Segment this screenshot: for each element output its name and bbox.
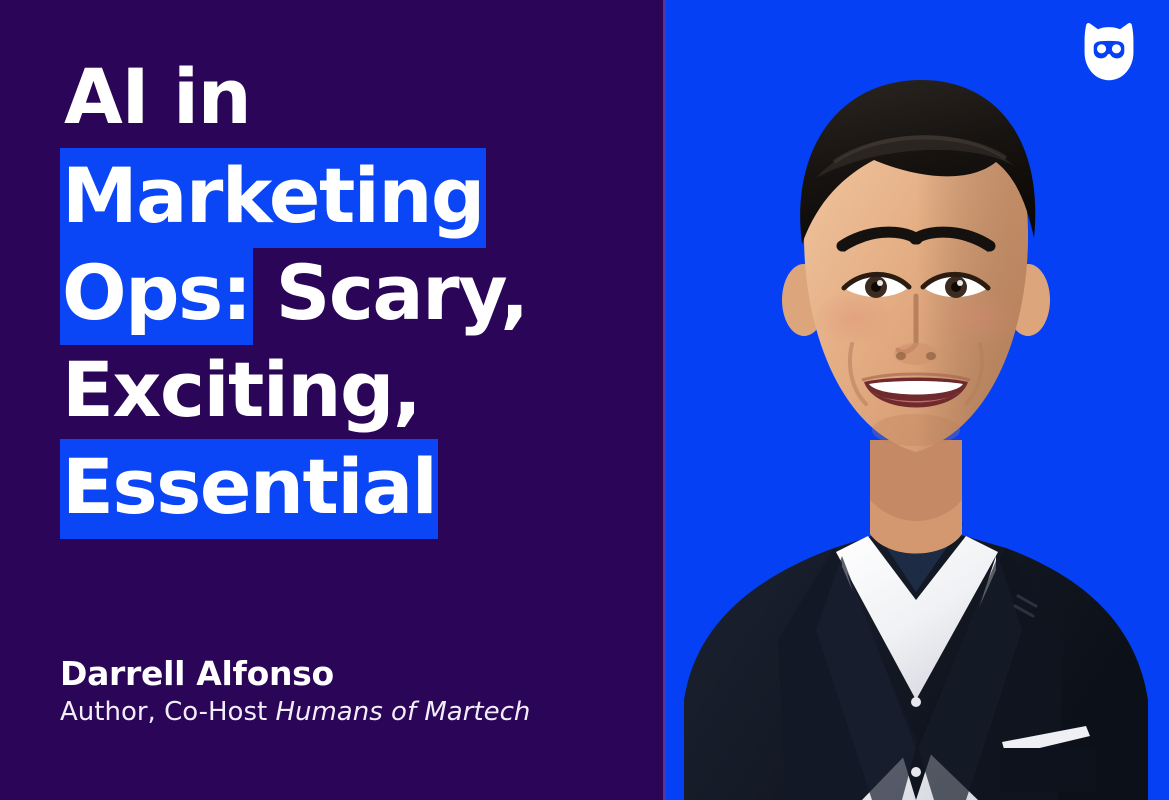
speaker-name: Darrell Alfonso <box>60 655 530 693</box>
headline-highlight-ops: Ops: <box>60 245 253 345</box>
speaker-block: Darrell Alfonso Author, Co-Host Humans o… <box>60 655 530 728</box>
ninja-mask-logo-icon <box>1075 18 1143 86</box>
portrait-panel <box>666 0 1169 800</box>
speaker-role: Author, Co-Host Humans of Martech <box>60 697 530 728</box>
headline-line-4: Exciting, <box>62 341 642 438</box>
headline-line-3: Ops: Scary, <box>62 244 642 341</box>
headline-line-3-rest: Scary, <box>251 248 528 337</box>
speaker-role-prefix: Author, Co-Host <box>60 697 275 727</box>
page-title: AI in Marketing Ops: Scary, Exciting, Es… <box>62 48 642 535</box>
speaker-photo <box>666 0 1169 800</box>
headline-highlight-essential: Essential <box>60 439 438 539</box>
panel-divider <box>663 0 666 800</box>
speaker-publication: Humans of Martech <box>275 697 530 727</box>
headline-line-5: Essential <box>62 438 642 535</box>
headline-highlight-marketing: Marketing <box>60 148 486 248</box>
headline-line-1: AI in <box>64 48 642 145</box>
webinar-promo-slide: AI in Marketing Ops: Scary, Exciting, Es… <box>0 0 1169 800</box>
headline-line-2: Marketing <box>62 147 642 244</box>
